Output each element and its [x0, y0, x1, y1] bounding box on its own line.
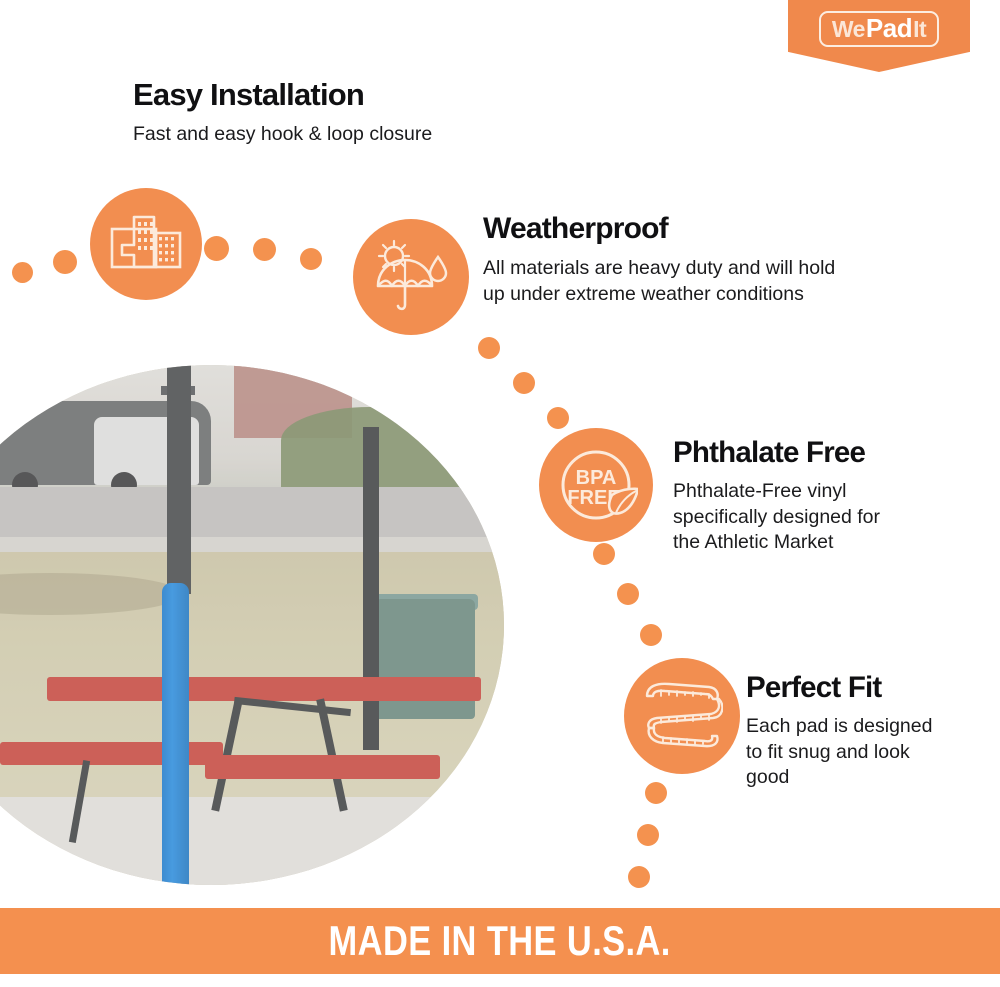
made-in-usa-text: MADE IN THE U.S.A. [329, 917, 671, 965]
path-dot [513, 372, 535, 394]
feature-description-line: specifically designed for [673, 505, 983, 531]
bpa-label-line1: BPA [576, 467, 617, 489]
path-dot [253, 238, 276, 261]
feature-description-line: Phthalate-Free vinyl [673, 479, 983, 505]
feature-description: Fast and easy hook & loop closure [133, 122, 553, 148]
path-dot [645, 782, 667, 804]
feature-title: Easy Installation [133, 78, 553, 111]
feature-title: Weatherproof [483, 213, 923, 245]
feature-description: Each pad is designed to fit snug and loo… [746, 714, 986, 791]
path-dot [640, 624, 662, 646]
path-dot [12, 262, 33, 283]
path-dot [478, 337, 500, 359]
feature-title: Phthalate Free [673, 437, 983, 469]
feature-description-line: up under extreme weather conditions [483, 282, 923, 308]
path-dot [53, 250, 77, 274]
sun-umbrella-rain-icon [353, 219, 469, 335]
path-dot [617, 583, 639, 605]
feature-description-line: the Athletic Market [673, 530, 983, 556]
peel-install-icon [90, 188, 202, 300]
feature-description-line: good [746, 765, 986, 791]
feature-description-line: Each pad is designed [746, 714, 986, 740]
bpa-free-leaf-icon: BPA FREE [539, 428, 653, 542]
path-dot [547, 407, 569, 429]
path-dot [637, 824, 659, 846]
path-dot [300, 248, 322, 270]
feature-easy-installation: Easy Installation Fast and easy hook & l… [133, 78, 553, 148]
blue-pole-pad [162, 583, 189, 885]
logo-text-it: It [913, 18, 926, 41]
photo-scene [0, 365, 504, 885]
feature-description: Phthalate-Free vinyl specifically design… [673, 479, 983, 556]
feature-weatherproof: Weatherproof All materials are heavy dut… [483, 213, 923, 308]
logo-text-pad: Pad [866, 15, 912, 41]
logo-text-we: We [832, 18, 865, 41]
feature-description-line: Fast and easy hook & loop closure [133, 122, 553, 148]
feature-description-line: All materials are heavy duty and will ho… [483, 256, 923, 282]
product-photo [0, 365, 504, 885]
feature-description-line: to fit snug and look [746, 740, 986, 766]
feature-perfect-fit: Perfect Fit Each pad is designed to fit … [746, 672, 986, 791]
path-dot [628, 866, 650, 888]
path-dot [204, 236, 229, 261]
measuring-tape-icon [624, 658, 740, 774]
feature-phthalate-free: Phthalate Free Phthalate-Free vinyl spec… [673, 437, 983, 556]
infographic-canvas: We Pad It [0, 0, 1000, 987]
logo-frame: We Pad It [819, 11, 939, 47]
made-in-usa-banner: MADE IN THE U.S.A. [0, 908, 1000, 974]
path-dot [593, 543, 615, 565]
feature-title: Perfect Fit [746, 672, 986, 704]
feature-description: All materials are heavy duty and will ho… [483, 256, 923, 307]
brand-logo: We Pad It [788, 0, 970, 72]
